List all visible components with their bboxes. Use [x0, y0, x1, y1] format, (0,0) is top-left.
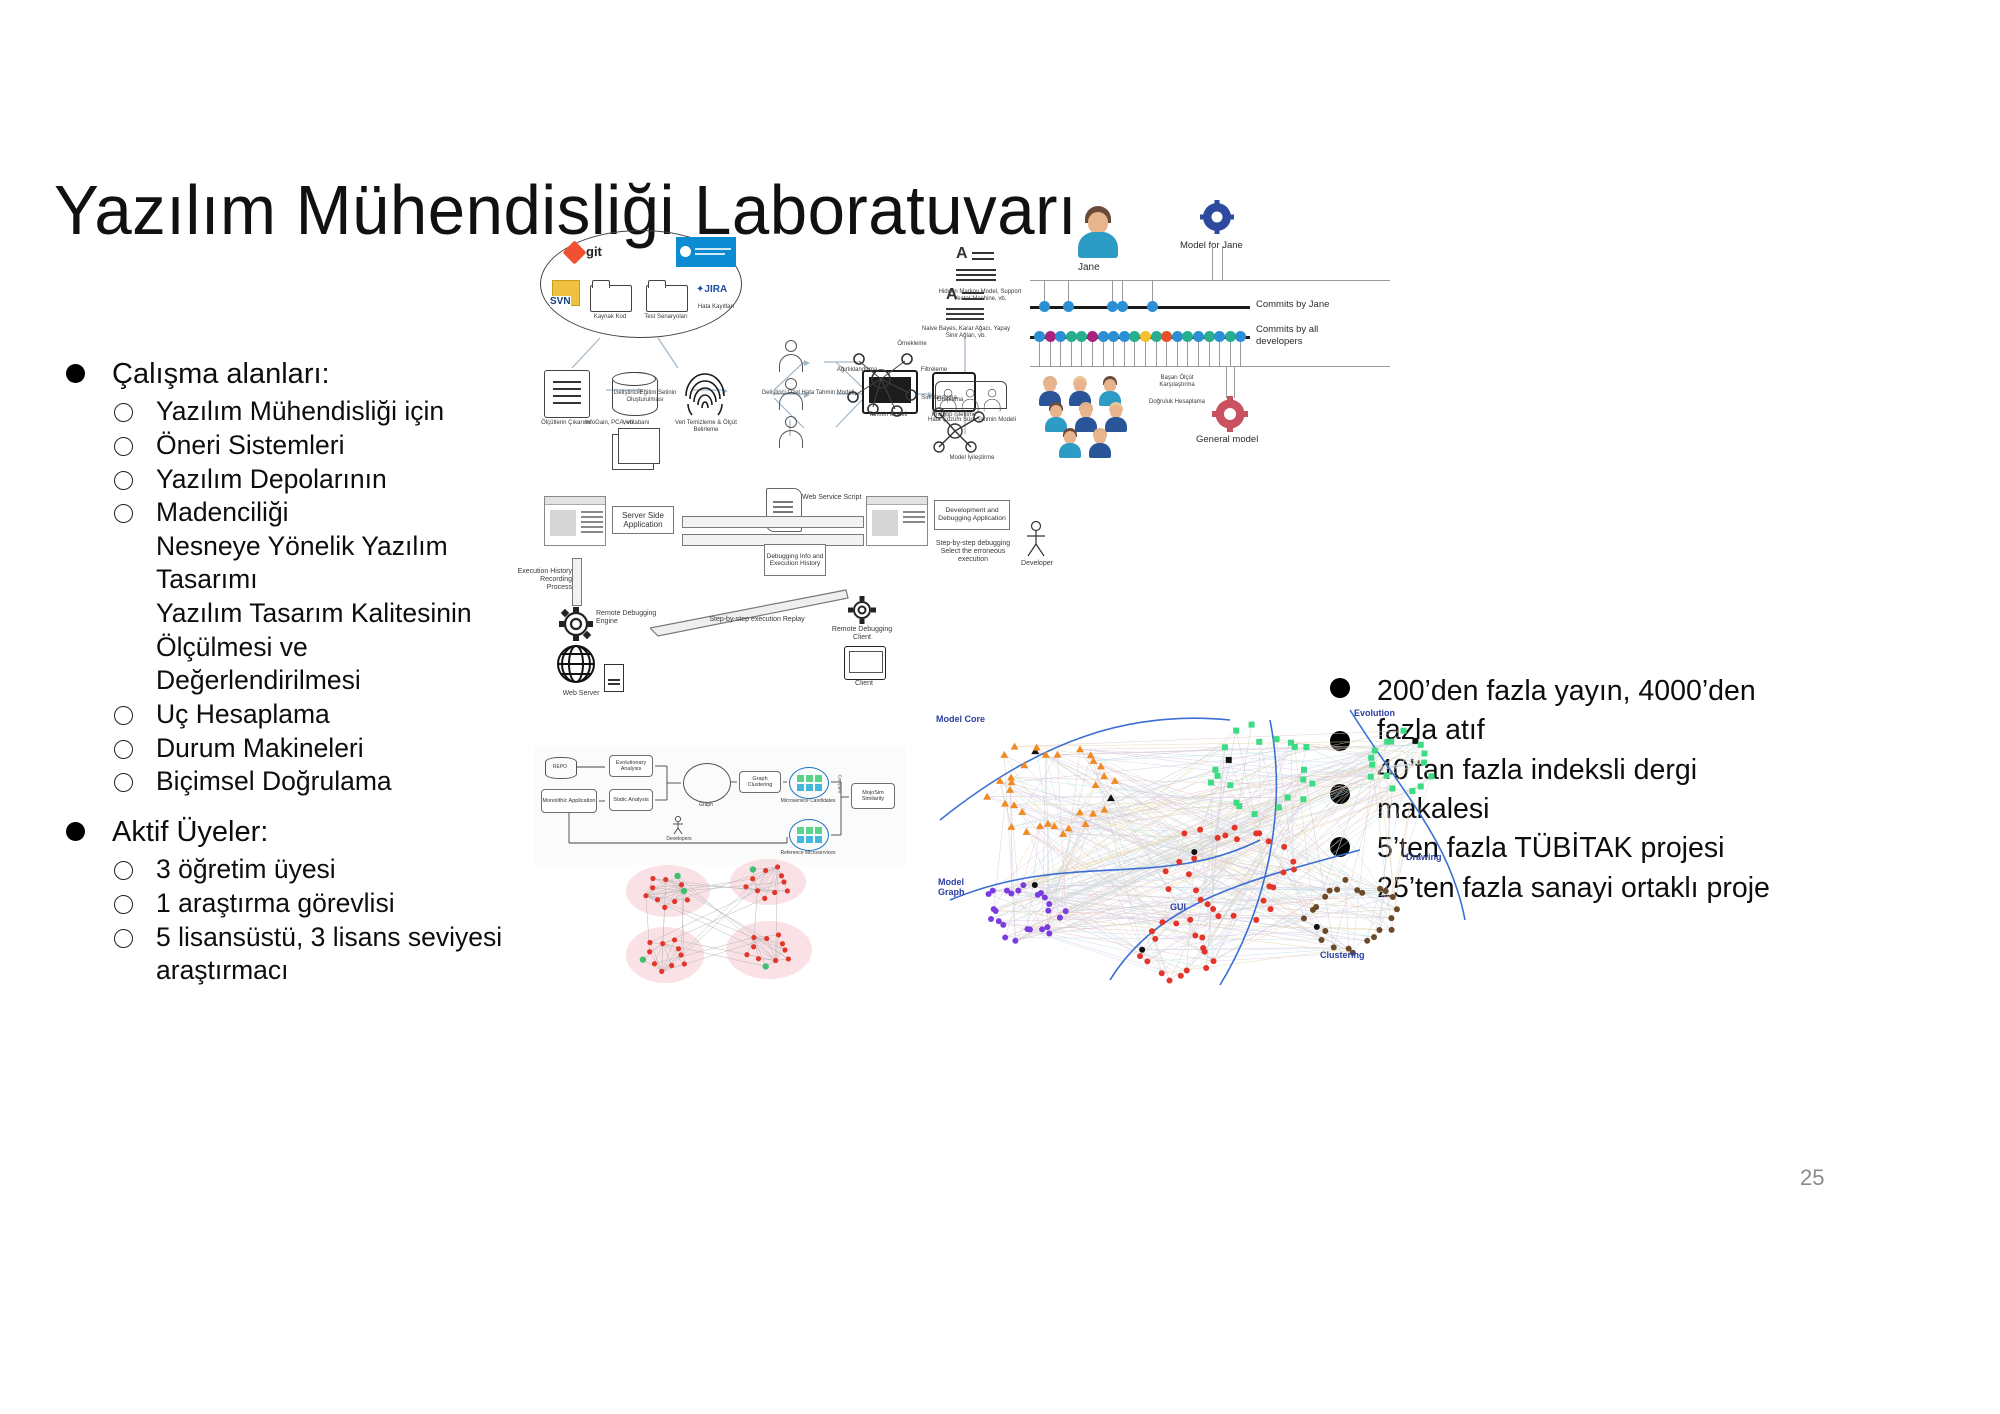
network-node: [1205, 901, 1211, 907]
developer-icon: [983, 389, 1001, 413]
network-node: [1364, 938, 1370, 944]
network-node: [1159, 970, 1165, 976]
step-label: Filtreleme: [909, 367, 959, 374]
hollow-bullet-icon: [114, 929, 133, 948]
network-node: [1313, 904, 1319, 910]
page-number: 25: [1800, 1165, 1824, 1191]
hollow-bullet-icon: [114, 504, 133, 523]
network-node: [1334, 887, 1340, 893]
network-node: [1383, 888, 1389, 894]
network-node: [1401, 728, 1407, 734]
network-node: [1192, 932, 1198, 938]
network-node: [996, 918, 1002, 924]
folder-icon: [590, 280, 630, 310]
commit-tick: [1060, 342, 1061, 366]
network-node: [1389, 927, 1395, 933]
network-node: [1137, 953, 1143, 959]
gear-model-for-jane-icon: [1200, 200, 1234, 234]
developer-crowd-icons: [1038, 376, 1168, 452]
network-node: [1032, 882, 1038, 888]
developer-avatar-icon: [1088, 428, 1112, 458]
network-node: [1210, 906, 1216, 912]
network-node: [1418, 783, 1424, 789]
graph-node: [659, 969, 664, 974]
folder-label: Test Senaryoları: [636, 314, 696, 321]
network-node: [1227, 782, 1233, 788]
network-node: [1342, 877, 1348, 883]
network-node: [1231, 913, 1237, 919]
execution-history-arrow: [572, 558, 582, 606]
folder-icon: [646, 280, 686, 310]
commit-tick: [1177, 342, 1178, 366]
network-label-evolution: Evolution: [1354, 708, 1395, 718]
commit-dot: [1055, 331, 1066, 342]
graph-node: [750, 876, 755, 881]
network-label-drawing: Drawing: [1406, 852, 1442, 862]
network-node: [1046, 930, 1052, 936]
developer-avatar-icon: [1058, 428, 1082, 458]
network-node: [1233, 800, 1239, 806]
list-item-label: 1 araştırma görevlisi: [156, 888, 395, 918]
network-node: [1256, 739, 1262, 745]
network-node: [988, 916, 994, 922]
list-item-label: Yazılım Depolarının: [156, 464, 387, 494]
network-node: [1002, 934, 1008, 940]
list-item-label: Ölçülmesi ve: [156, 632, 308, 662]
gear-general-model-icon: [1212, 396, 1248, 432]
network-node: [1008, 890, 1014, 896]
commit-tick: [1071, 342, 1072, 366]
graph-node: [682, 961, 687, 966]
network-node: [1193, 887, 1199, 893]
network-node: [1038, 890, 1044, 896]
network-node: [991, 906, 997, 912]
graph-node: [780, 941, 785, 946]
network-node: [1007, 773, 1015, 780]
hollow-bullet-icon: [114, 740, 133, 759]
general-model-label: General model: [1196, 434, 1258, 445]
filled-bullet-icon: [66, 364, 85, 383]
network-node: [1233, 728, 1239, 734]
graph-node: [763, 963, 769, 969]
graph-node: [678, 952, 683, 957]
commit-tick: [1081, 342, 1082, 366]
network-node: [1215, 773, 1221, 779]
globe-icon: [556, 644, 596, 684]
network-node: [1252, 811, 1258, 817]
graph-node: [674, 873, 680, 879]
list-item: Uç Hesaplama: [66, 698, 706, 732]
list-item-label: araştırmacı: [156, 955, 289, 985]
hollow-bullet-icon: [114, 403, 133, 422]
graph-node: [643, 893, 648, 898]
network-node: [1184, 968, 1190, 974]
step-by-step-debug-label: Step-by-step debugging Select the errone…: [930, 540, 1016, 564]
git-logo-icon: [566, 244, 583, 261]
graph-node: [672, 937, 677, 942]
network-node: [1199, 935, 1205, 941]
commit-dot: [1182, 331, 1193, 342]
graph-node: [786, 956, 791, 961]
graph-node: [679, 882, 684, 887]
graph-node: [669, 963, 674, 968]
network-node: [1291, 866, 1297, 872]
list-item-label: Tasarımı: [156, 564, 258, 594]
hollow-bullet-icon: [114, 861, 133, 880]
filled-bullet-icon: [1330, 678, 1350, 698]
graph-node: [775, 864, 780, 869]
metrics-doc-icon: [544, 370, 590, 418]
network-node: [1300, 796, 1306, 802]
commit-dot: [1172, 331, 1183, 342]
network-node: [1033, 744, 1041, 751]
graph-node: [779, 873, 784, 878]
figure-red-graph-clusters: [620, 855, 870, 995]
list-item: 5 lisansüstü, 3 lisans seviyesi: [66, 921, 706, 955]
commit-tick: [1219, 342, 1220, 366]
developer-icon: [961, 389, 979, 413]
execution-history-label: Execution History Recording Process: [516, 568, 572, 592]
network-node: [1045, 908, 1051, 914]
figure-jane-commits: Jane Model for Jane Commits by Jane Comm…: [1030, 200, 1460, 455]
graph-node: [650, 876, 655, 881]
graph-node: [781, 879, 786, 884]
network-node: [1249, 722, 1255, 728]
commit-dot: [1039, 301, 1050, 312]
commit-dot: [1161, 331, 1172, 342]
commit-dot: [1193, 331, 1204, 342]
commit-dot: [1235, 331, 1246, 342]
network-node: [1139, 947, 1145, 953]
figure-ml-extras: Geliştirici Eğitim Setinin Oluşturulması…: [600, 390, 820, 460]
rail-bottom: [1030, 366, 1390, 367]
graph-node: [750, 866, 756, 872]
network-node: [1276, 804, 1282, 810]
development-debug-app-box: Development and Debugging Application: [934, 500, 1010, 530]
hollow-bullet-icon: [114, 471, 133, 490]
network-node: [1394, 906, 1400, 912]
network-node: [1266, 838, 1272, 844]
list-item-label: Yazılım Tasarım Kalitesinin: [156, 598, 472, 628]
network-node: [1285, 795, 1291, 801]
commit-dot: [1063, 301, 1074, 312]
server-side-app-box: Server Side Application: [612, 506, 674, 534]
graph-node: [772, 890, 777, 895]
network-node: [1020, 882, 1026, 888]
commit-tick: [1187, 342, 1188, 366]
graph-node: [685, 897, 690, 902]
step-label: Ağırlıklandırma: [827, 367, 887, 374]
network-node: [1369, 762, 1375, 768]
network-node: [1232, 825, 1238, 831]
network-node: [1012, 938, 1018, 944]
commit-tick: [1134, 342, 1135, 366]
network-node: [1197, 827, 1203, 833]
hollow-bullet-icon: [114, 706, 133, 725]
commit-tick: [1050, 342, 1051, 366]
debugging-info-box: Debugging Info and Execution History: [764, 544, 826, 576]
developer-label: Developer: [1012, 560, 1062, 568]
network-node: [1163, 868, 1169, 874]
network-node: [1418, 742, 1424, 748]
network-node: [1203, 965, 1209, 971]
network-node: [1173, 921, 1179, 927]
network-node: [1024, 926, 1030, 932]
network-label-model-graph: Model Graph: [938, 878, 976, 898]
network-node: [1015, 888, 1021, 894]
commit-dot: [1147, 301, 1158, 312]
commit-dot: [1076, 331, 1087, 342]
commit-dot: [1140, 331, 1151, 342]
network-node: [1234, 836, 1240, 842]
graph-node: [785, 888, 790, 893]
red-graph-svg: [620, 855, 870, 995]
network-svg: [930, 700, 1470, 990]
network-node: [983, 793, 991, 800]
network-node: [1226, 757, 1232, 763]
network-label-gui: GUI: [1170, 902, 1186, 912]
graph-node: [756, 956, 761, 961]
step-label: InfoGain, PCA, vb.: [570, 420, 650, 427]
commit-tick: [1113, 342, 1114, 366]
network-node: [1318, 937, 1324, 943]
network-node: [1200, 945, 1206, 951]
network-node: [1042, 895, 1048, 901]
remote-debug-client-gear-icon: [848, 596, 876, 624]
network-node: [1261, 898, 1267, 904]
web-service-script-label: Web Service Script: [802, 494, 862, 502]
graph-node: [647, 940, 652, 945]
network-node: [1314, 924, 1320, 930]
network-node: [1198, 897, 1204, 903]
list-item-label: Durum Makineleri: [156, 733, 364, 763]
network-node: [1301, 915, 1307, 921]
commit-tick: [1166, 342, 1167, 366]
bullet-label: Aktif Üyeler:: [112, 816, 268, 848]
svn-label: SVN: [550, 296, 571, 307]
bugzilla-tile-icon: [676, 237, 736, 267]
network-node: [1290, 859, 1296, 865]
jane-avatar-icon: [1078, 206, 1118, 258]
list-item-label: Değerlendirilmesi: [156, 665, 361, 695]
network-node: [1322, 928, 1328, 934]
rail-top: [1030, 280, 1390, 281]
replay-label: Step-by-step execution Replay: [708, 616, 806, 624]
network-node: [1409, 788, 1415, 794]
network-node: [1063, 908, 1069, 914]
commit-tick: [1198, 342, 1199, 366]
network-node: [1428, 773, 1434, 779]
developer-stick-icon: [1024, 520, 1048, 558]
graph-node: [763, 868, 768, 873]
commit-dot: [1214, 331, 1225, 342]
jira-logo-icon: ✦JIRA: [696, 284, 727, 295]
network-node: [1039, 926, 1045, 932]
network-node: [1309, 781, 1315, 787]
graph-node: [762, 896, 767, 901]
network-node: [1149, 928, 1155, 934]
debug-app-window-icon: [866, 496, 928, 546]
network-node: [1377, 886, 1383, 892]
network-node: [1215, 835, 1221, 841]
network-node: [1212, 767, 1218, 773]
step-label: Geliştirici Eğitim Setinin Oluşturulması: [600, 390, 690, 403]
graph-node: [782, 947, 787, 952]
remote-debug-engine-gear-icon: [558, 606, 594, 642]
commit-dot: [1129, 331, 1140, 342]
network-node: [1144, 958, 1150, 964]
commit-dot: [1087, 331, 1098, 342]
commit-dot: [1117, 301, 1128, 312]
commit-tick: [1039, 342, 1040, 366]
bullet-label: Çalışma alanları:: [112, 358, 330, 390]
graph-node: [652, 961, 657, 966]
network-node: [1372, 748, 1378, 754]
client-monitor-icon: [844, 646, 886, 680]
replay-arrow: [650, 584, 850, 640]
graph-node: [751, 944, 756, 949]
commits-by-jane-label: Commits by Jane: [1256, 299, 1329, 310]
network-node: [1044, 924, 1050, 930]
graph-node: [751, 935, 756, 940]
network-node: [1166, 886, 1172, 892]
developer-icon: [939, 389, 957, 413]
graph-node: [662, 905, 667, 910]
list-item-label: Uç Hesaplama: [156, 699, 330, 729]
list-item-label: Yazılım Mühendisliği için: [156, 396, 444, 426]
graph-node: [647, 949, 652, 954]
developer-icon: [778, 340, 804, 374]
list-item-label: Öneri Sistemleri: [156, 430, 345, 460]
jira-label: Hata Kayıtları: [686, 304, 746, 311]
network-node: [1222, 833, 1228, 839]
network-node: [1057, 915, 1063, 921]
network-node: [1421, 750, 1427, 756]
network-node: [1388, 915, 1394, 921]
network-node: [1176, 859, 1182, 865]
client-label: Client: [834, 680, 894, 688]
network-label-model-core: Model Core: [936, 714, 985, 724]
graph-node: [650, 885, 655, 890]
filled-bullet-icon: [66, 822, 85, 841]
commit-tick: [1240, 342, 1241, 366]
spacer: [606, 380, 607, 381]
network-node: [1327, 888, 1333, 894]
network-node: [1412, 738, 1418, 744]
graph-node: [755, 888, 760, 893]
network-node: [1376, 927, 1382, 933]
network-node: [1280, 869, 1286, 875]
model-note: Hidden Markov Model, Support Vector Mach…: [934, 289, 1026, 302]
list-item-continuation: araştırmacı: [66, 954, 706, 988]
network-node: [1186, 871, 1192, 877]
network-node: [1359, 890, 1365, 896]
graph-node: [681, 888, 687, 894]
network-node: [1191, 856, 1197, 862]
network-node: [1368, 755, 1374, 761]
network-node: [1322, 894, 1328, 900]
commit-dot: [1108, 331, 1119, 342]
network-node: [1292, 744, 1298, 750]
network-node: [1301, 767, 1307, 773]
commit-tick: [1103, 342, 1104, 366]
commit-dot: [1098, 331, 1109, 342]
commits-by-all-label: Commits by all developers: [1256, 324, 1346, 348]
list-item: 1 araştırma görevlisi: [66, 887, 706, 921]
figure-dependency-network: Model Core Model Graph Evolution GUI Dra…: [930, 700, 1470, 990]
hollow-bullet-icon: [114, 437, 133, 456]
network-node: [1181, 830, 1187, 836]
network-node: [1384, 773, 1390, 779]
network-node: [1211, 958, 1217, 964]
graph-node: [660, 941, 665, 946]
graph-node: [776, 932, 781, 937]
graph-node: [655, 897, 660, 902]
hollow-bullet-icon: [114, 773, 133, 792]
network-node: [1011, 743, 1019, 750]
aktif-uyeler-sublist: 3 öğretim üyesi 1 araştırma görevlisi 5 …: [66, 853, 706, 988]
figure-remote-debugging: Server Side Application Web Service Scri…: [530, 488, 1050, 703]
list-item-label: Biçimsel Doğrulama: [156, 766, 392, 796]
commit-dot: [1119, 331, 1130, 342]
commit-dot: [1066, 331, 1077, 342]
network-label-clustering: Clustering: [1320, 950, 1365, 960]
network-node: [1421, 760, 1427, 766]
commit-dot: [1151, 331, 1162, 342]
jane-label: Jane: [1078, 262, 1100, 273]
network-node: [1159, 919, 1165, 925]
step-label: Hata Çözüm Süre Tahmin Modeli: [925, 417, 1019, 424]
network-node: [1167, 978, 1173, 984]
commit-tick: [1124, 342, 1125, 366]
network-node: [1053, 751, 1061, 758]
step-label: Model İyileştirme: [925, 455, 1019, 462]
graph-node: [764, 936, 769, 941]
network-node: [1303, 744, 1309, 750]
server-rack-icon: [604, 664, 624, 692]
step-label: Örnekleme: [887, 341, 937, 348]
network-node: [1390, 894, 1396, 900]
web-server-label: Web Server: [548, 690, 614, 698]
commit-dot: [1225, 331, 1236, 342]
network-node: [1389, 785, 1395, 791]
arrow-left: [682, 516, 864, 528]
network-node: [1178, 973, 1184, 979]
graph-node: [676, 946, 681, 951]
graph-node: [773, 958, 778, 963]
network-node: [1256, 830, 1262, 836]
commit-tick: [1145, 342, 1146, 366]
network-node: [1222, 744, 1228, 750]
network-node: [1191, 849, 1197, 855]
network-node: [1388, 739, 1394, 745]
graph-node: [672, 899, 677, 904]
network-node: [1187, 917, 1193, 923]
folder-label: Kaynak Kod: [580, 314, 640, 321]
list-item-label: Nesneye Yönelik Yazılım: [156, 531, 448, 561]
commit-tick: [1092, 342, 1093, 366]
commit-dot: [1045, 331, 1056, 342]
microservice-connectors: [535, 745, 905, 865]
git-label: git: [586, 244, 602, 259]
network-node: [996, 777, 1004, 784]
hollow-bullet-icon: [114, 895, 133, 914]
network-node: [1274, 736, 1280, 742]
server-window-icon: [544, 496, 606, 546]
network-node: [990, 888, 996, 894]
list-item-label: Madenciliği: [156, 497, 289, 527]
network-node: [1253, 917, 1259, 923]
